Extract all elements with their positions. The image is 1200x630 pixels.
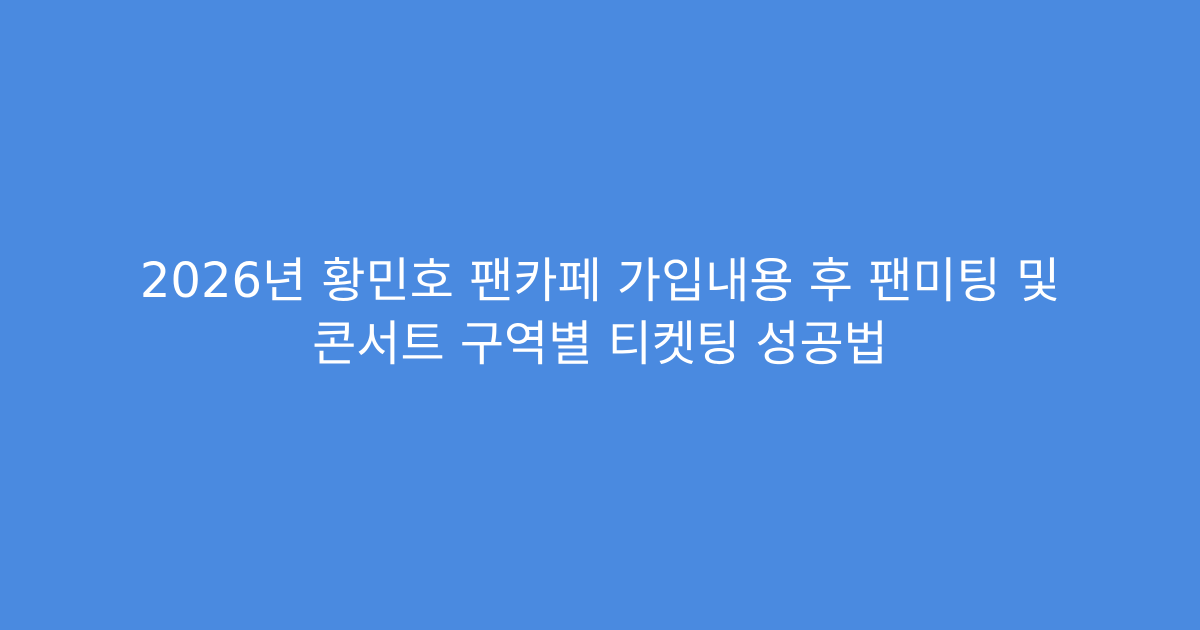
page-title-line-2: 콘서트 구역별 티켓팅 성공법 <box>120 313 1080 376</box>
thumbnail-canvas: 2026년 황민호 팬카페 가입내용 후 팬미팅 및 콘서트 구역별 티켓팅 성… <box>0 0 1200 630</box>
page-title: 2026년 황민호 팬카페 가입내용 후 팬미팅 및 콘서트 구역별 티켓팅 성… <box>100 250 1100 376</box>
page-title-line-1: 2026년 황민호 팬카페 가입내용 후 팬미팅 및 <box>120 250 1080 313</box>
